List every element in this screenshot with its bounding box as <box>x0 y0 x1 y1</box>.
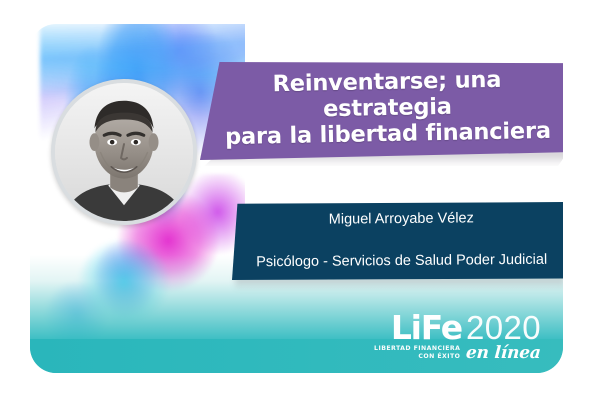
webinar-title: Reinventarse; una estrategia para la lib… <box>199 65 563 156</box>
promo-card-stage: Reinventarse; una estrategia para la lib… <box>0 0 600 400</box>
speaker-role: Psicólogo - Servicios de Salud Poder Jud… <box>256 250 547 274</box>
life-2020-logo: LiFe 2020 LIBERTAD FINANCIERA CON ÉXITO … <box>374 313 541 361</box>
title-banner: Reinventarse; una estrategia para la lib… <box>200 62 563 160</box>
logo-year-text: 2020 <box>466 313 541 343</box>
portrait-photo <box>55 83 193 221</box>
speaker-portrait-avatar <box>51 79 197 225</box>
logo-stack: LiFe 2020 LIBERTAD FINANCIERA CON ÉXITO … <box>374 313 541 361</box>
speaker-banner: Miguel Arroyabe Vélez Psicólogo - Servic… <box>232 202 563 280</box>
logo-tagline: LIBERTAD FINANCIERA CON ÉXITO <box>374 345 460 361</box>
logo-wordmark: LiFe 2020 <box>391 313 541 343</box>
logo-brand-text: LiFe <box>391 313 462 343</box>
logo-online-text: en línea <box>466 345 542 362</box>
webinar-promo-card: Reinventarse; una estrategia para la lib… <box>30 24 563 373</box>
logo-subtitle-row: LIBERTAD FINANCIERA CON ÉXITO en línea <box>374 344 541 361</box>
speaker-name: Miguel Arroyabe Vélez <box>255 208 546 232</box>
